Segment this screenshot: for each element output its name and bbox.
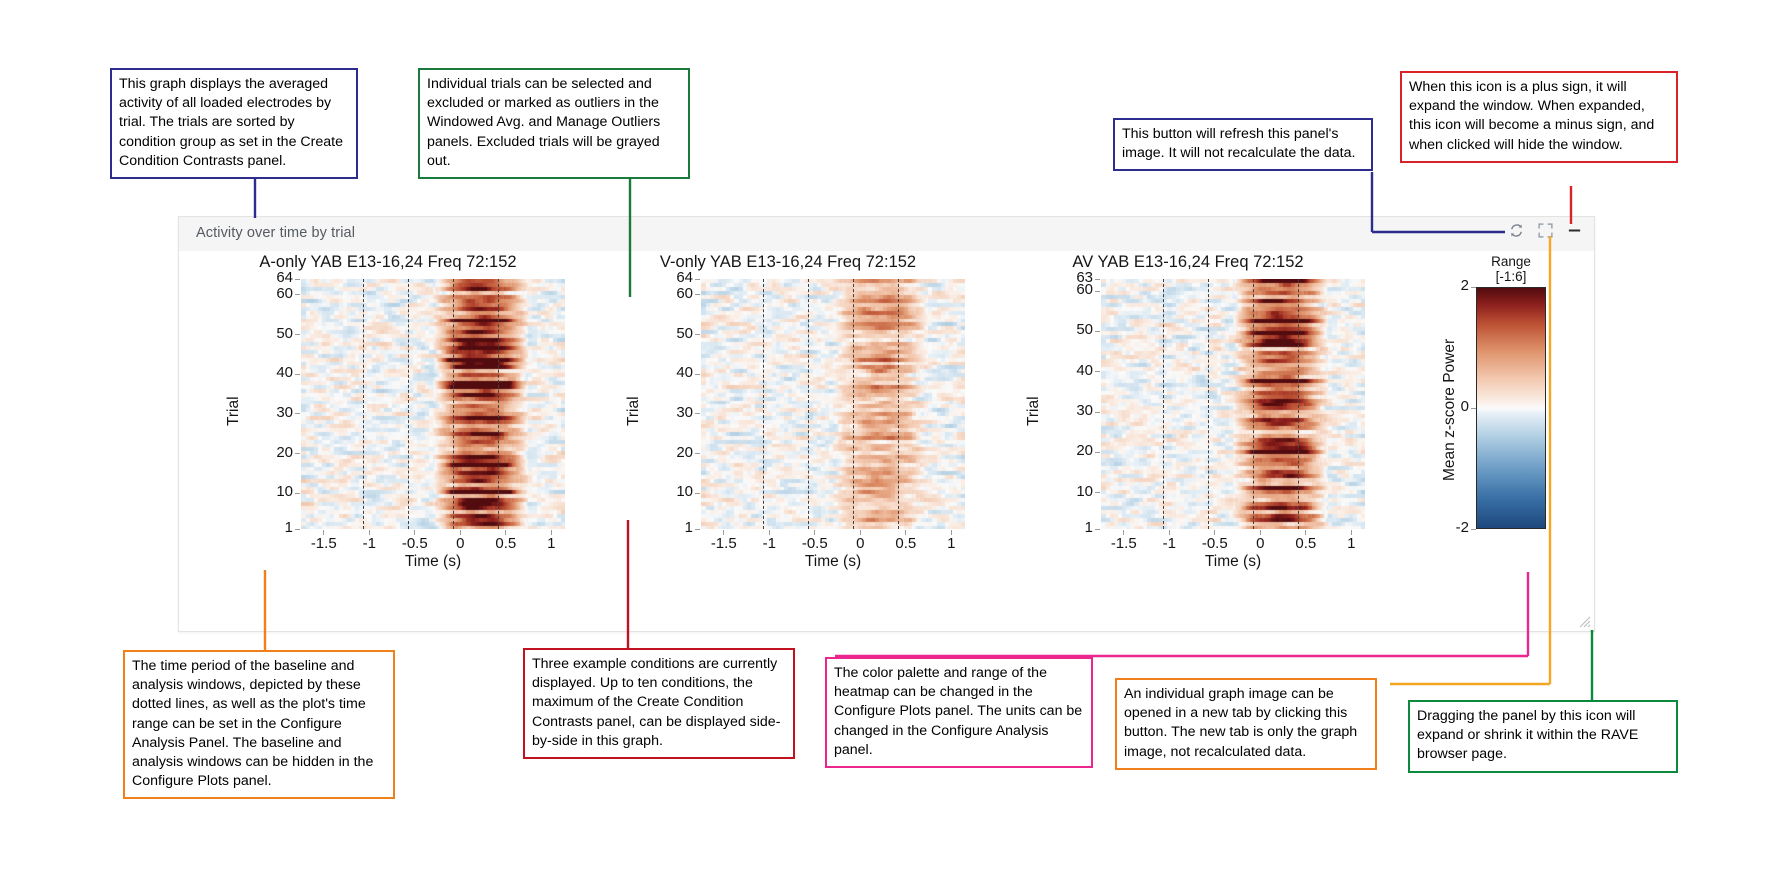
callout-graph-description: This graph displays the averaged activit… xyxy=(110,68,358,179)
callout-text: This graph displays the averaged activit… xyxy=(119,76,343,169)
callout-text: When this icon is a plus sign, it will e… xyxy=(1409,79,1654,153)
callout-refresh-button: This button will refresh this panel's im… xyxy=(1113,118,1373,171)
callout-text: Three example conditions are currently d… xyxy=(532,656,780,749)
callout-example-conditions: Three example conditions are currently d… xyxy=(523,648,795,759)
callout-color-palette: The color palette and range of the heatm… xyxy=(825,657,1093,768)
callout-text: An individual graph image can be opened … xyxy=(1124,686,1357,760)
callout-open-new-tab: An individual graph image can be opened … xyxy=(1115,678,1377,770)
callout-text: Dragging the panel by this icon will exp… xyxy=(1417,708,1638,762)
callout-trial-selection: Individual trials can be selected and ex… xyxy=(418,68,690,179)
callout-text: The time period of the baseline and anal… xyxy=(132,658,373,789)
callout-text: The color palette and range of the heatm… xyxy=(834,665,1082,758)
callout-drag-resize: Dragging the panel by this icon will exp… xyxy=(1408,700,1678,773)
callout-expand-collapse: When this icon is a plus sign, it will e… xyxy=(1400,71,1678,163)
callout-text: Individual trials can be selected and ex… xyxy=(427,76,660,169)
callout-baseline-analysis: The time period of the baseline and anal… xyxy=(123,650,395,799)
callout-text: This button will refresh this panel's im… xyxy=(1122,126,1355,161)
